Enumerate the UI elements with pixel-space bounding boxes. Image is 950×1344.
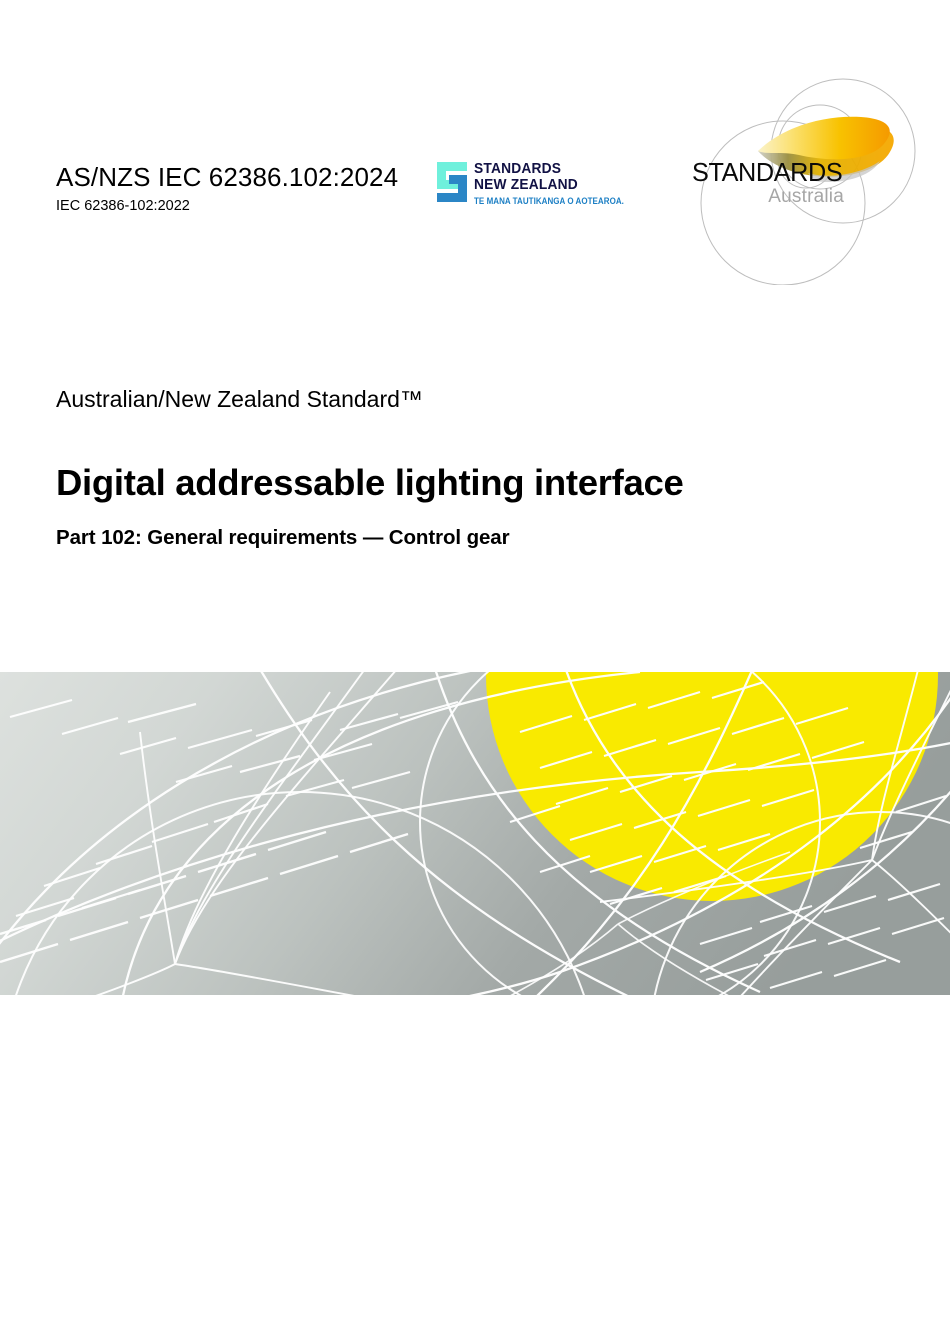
designation-secondary: IEC 62386-102:2022 xyxy=(56,198,398,214)
snz-line-new-zealand: NEW ZEALAND xyxy=(474,178,638,194)
cover-header: AS/NZS IEC 62386.102:2024 IEC 62386-102:… xyxy=(0,0,950,300)
standards-australia-wordmark: STANDARDS Australia xyxy=(692,160,852,206)
designation-primary: AS/NZS IEC 62386.102:2024 xyxy=(56,163,398,193)
standards-australia-logo: STANDARDS Australia xyxy=(675,55,950,285)
cover-title-block: Australian/New Zealand Standard™ Digital… xyxy=(56,386,856,550)
page-subtitle: Part 102: General requirements — Control… xyxy=(56,526,856,551)
snz-line-standards: STANDARDS xyxy=(474,162,638,178)
sa-word-standards: STANDARDS xyxy=(692,160,850,186)
snz-line-maori-tagline: TE MANA TAUTIKANGA O AOTEAROA. xyxy=(474,195,624,207)
banner-artwork xyxy=(0,672,950,995)
standard-kind-label: Australian/New Zealand Standard™ xyxy=(56,386,856,414)
sa-word-australia: Australia xyxy=(692,187,852,206)
standard-designation: AS/NZS IEC 62386.102:2024 IEC 62386-102:… xyxy=(56,163,398,214)
standards-new-zealand-wordmark: STANDARDS NEW ZEALAND TE MANA TAUTIKANGA… xyxy=(474,162,646,207)
standards-new-zealand-mark-icon xyxy=(437,162,467,202)
page-title: Digital addressable lighting interface xyxy=(56,462,856,504)
standards-new-zealand-logo: STANDARDS NEW ZEALAND TE MANA TAUTIKANGA… xyxy=(437,162,609,206)
decorative-banner xyxy=(0,672,950,995)
